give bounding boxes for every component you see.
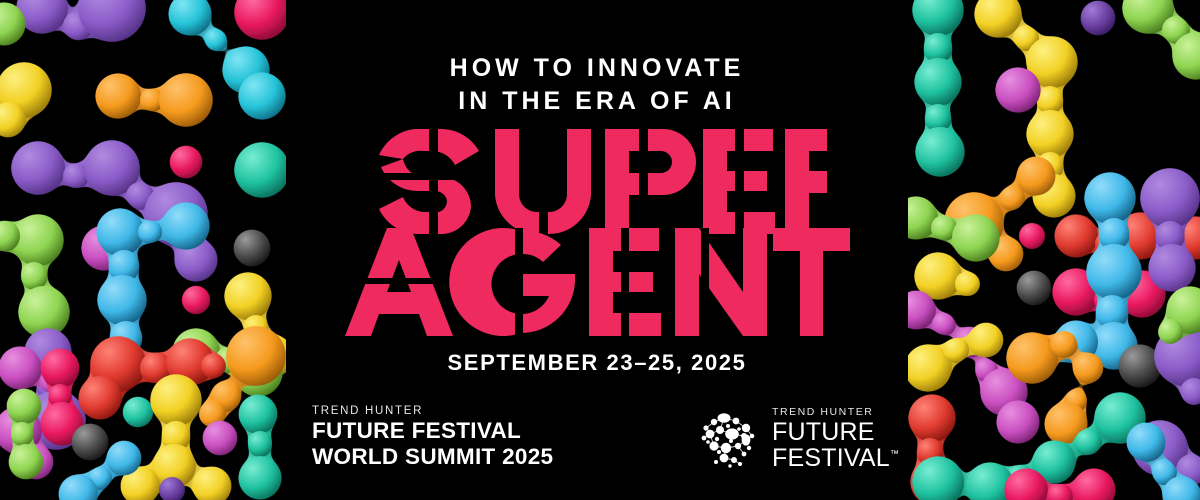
banner-content: HOW TO INNOVATE IN THE ERA OF AI SUPER [286, 0, 908, 500]
future-festival-logo[interactable]: TREND HUNTER FUTURE FESTIVAL™ [694, 402, 894, 478]
event-title: SUPER [286, 129, 908, 336]
headline-line-2: IN THE ERA OF AI [450, 85, 745, 118]
logo-brand: TREND HUNTER [772, 406, 899, 419]
banner-footer: TREND HUNTER FUTURE FESTIVAL WORLD SUMMI… [286, 398, 908, 490]
title-line-1-super: SUPER [367, 129, 827, 234]
lockup-brand: TREND HUNTER [312, 404, 553, 418]
event-date: SEPTEMBER 23–25, 2025 [448, 350, 747, 376]
lockup-line-2: WORLD SUMMIT 2025 [312, 444, 553, 469]
event-banner: HOW TO INNOVATE IN THE ERA OF AI SUPER [0, 0, 1200, 500]
headline: HOW TO INNOVATE IN THE ERA OF AI [450, 52, 745, 119]
metaball-pattern-right [908, 0, 1200, 500]
brain-network-icon [694, 406, 764, 472]
headline-line-1: HOW TO INNOVATE [450, 52, 745, 85]
metaball-pattern-left [0, 0, 286, 500]
title-line-2-agents: AGENTS [345, 228, 850, 336]
logo-line-2-text: FESTIVAL [772, 444, 890, 472]
logo-line-1: FUTURE [772, 419, 899, 445]
lockup-line-1: FUTURE FESTIVAL [312, 418, 553, 443]
event-lockup: TREND HUNTER FUTURE FESTIVAL WORLD SUMMI… [312, 404, 553, 469]
trademark-symbol: ™ [890, 448, 899, 458]
logo-wordmark: TREND HUNTER FUTURE FESTIVAL™ [772, 406, 899, 471]
logo-line-2: FESTIVAL™ [772, 445, 899, 471]
